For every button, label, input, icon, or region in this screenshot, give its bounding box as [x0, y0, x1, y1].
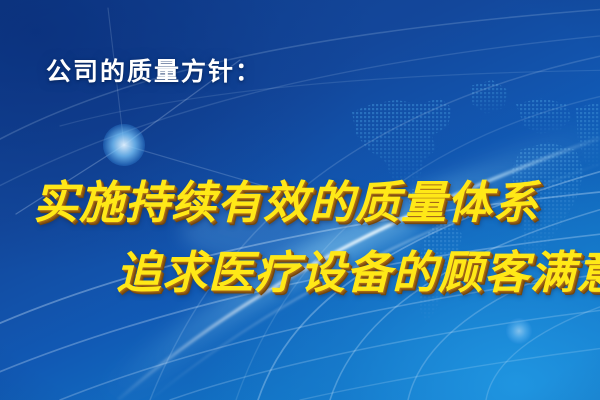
policy-statement-line-2: 追求医疗设备的顾客满意 — [116, 236, 600, 301]
quality-policy-banner: 公司的质量方针： 实施持续有效的质量体系 追求医疗设备的顾客满意 — [0, 0, 600, 400]
policy-statement-line-1: 实施持续有效的质量体系 — [33, 166, 539, 231]
banner-text-content: 公司的质量方针： 实施持续有效的质量体系 追求医疗设备的顾客满意 — [0, 0, 600, 400]
page-title: 公司的质量方针： — [46, 52, 262, 88]
